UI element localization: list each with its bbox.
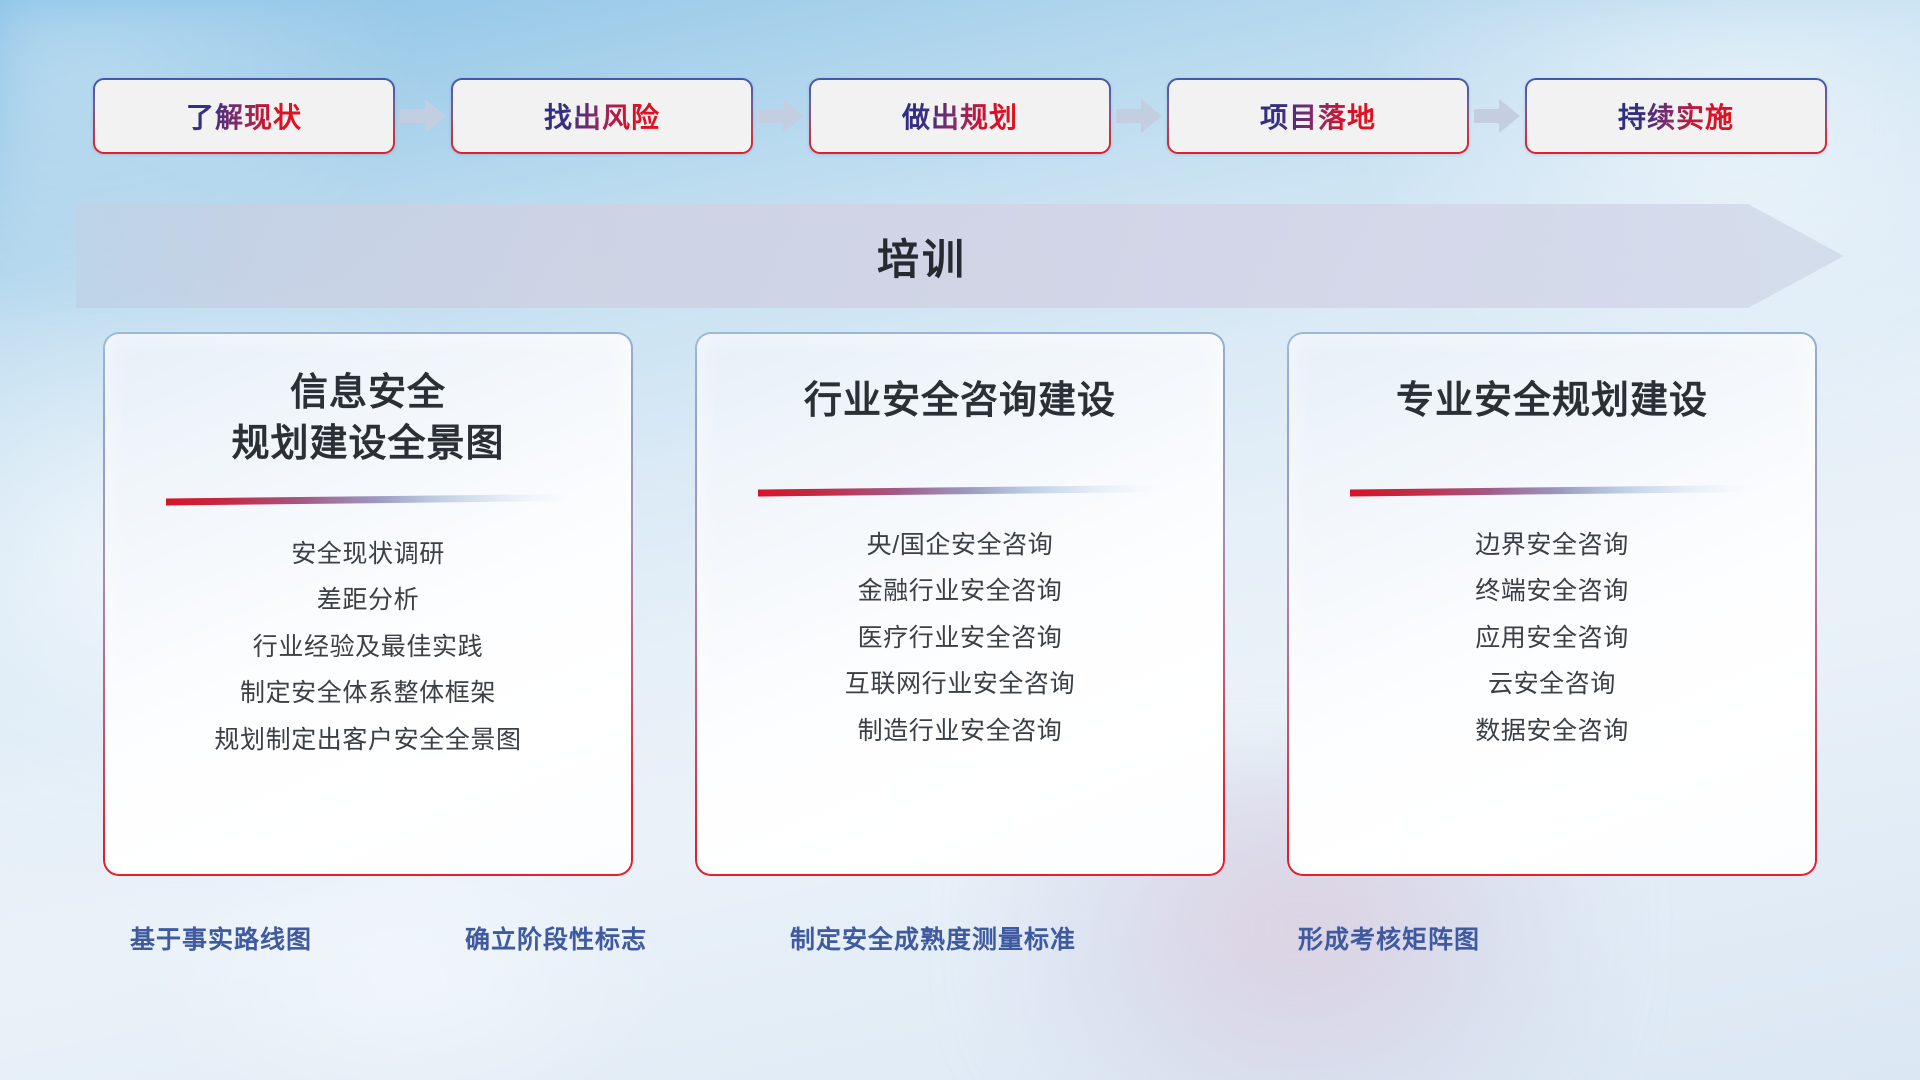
list-item: 边界安全咨询 (1475, 527, 1629, 565)
service-card-1-title-line-1: 信息安全 (231, 368, 504, 419)
step-item-1-label: 了解现状 (186, 96, 302, 136)
step-item-5[interactable]: 持续实施 (1525, 78, 1827, 154)
step-item-2-label: 找出风险 (544, 96, 660, 136)
list-item: 央/国企安全咨询 (867, 527, 1054, 565)
service-card-1-list: 安全现状调研 差距分析 行业经验及最佳实践 制定安全体系整体框架 规划制定出客户… (214, 536, 521, 760)
service-card-row: 信息安全 规划建设全景图 (0, 332, 1920, 876)
arrow-right-icon (1469, 78, 1525, 154)
training-banner: 培训 (76, 204, 1844, 308)
step-item-1-surface: 了解现状 (95, 80, 393, 152)
step-item-2-surface: 找出风险 (453, 80, 751, 152)
step-item-5-surface: 持续实施 (1527, 80, 1825, 152)
service-card-2-border: 行业安全咨询建设 (695, 332, 1225, 876)
service-card-1-title-line-2: 规划建设全景图 (231, 419, 504, 470)
service-card-1-title: 信息安全 规划建设全景图 (209, 368, 526, 470)
list-item: 医疗行业安全咨询 (858, 620, 1063, 658)
list-item: 应用安全咨询 (1475, 620, 1629, 658)
gradient-underline-icon (166, 494, 570, 506)
service-card-3-list: 边界安全咨询 终端安全咨询 应用安全咨询 云安全咨询 数据安全咨询 (1475, 527, 1629, 751)
step-item-1[interactable]: 了解现状 (93, 78, 395, 154)
gradient-underline-icon (758, 485, 1162, 497)
arrow-right-icon (1111, 78, 1167, 154)
list-item: 终端安全咨询 (1475, 573, 1629, 611)
outcome-caption-4: 形成考核矩阵图 (1298, 920, 1480, 956)
list-item: 行业经验及最佳实践 (253, 629, 483, 667)
process-step-row: 了解现状 找出风险 做出规划 项目落地 (0, 78, 1920, 154)
training-banner-label: 培训 (76, 204, 1768, 308)
service-card-2-title-line-1: 行业安全咨询建设 (804, 376, 1116, 427)
arrow-right-icon (395, 78, 451, 154)
service-card-3-border: 专业安全规划建设 (1287, 332, 1817, 876)
step-item-4[interactable]: 项目落地 (1167, 78, 1469, 154)
service-card-2-list: 央/国企安全咨询 金融行业安全咨询 医疗行业安全咨询 互联网行业安全咨询 制造行… (845, 527, 1075, 751)
list-item: 安全现状调研 (291, 536, 445, 574)
list-item: 规划制定出客户安全全景图 (214, 722, 521, 760)
list-item: 数据安全咨询 (1475, 713, 1629, 751)
service-card-1-surface: 信息安全 规划建设全景图 (105, 334, 631, 874)
gradient-underline-icon (1350, 485, 1754, 497)
service-card-1-border: 信息安全 规划建设全景图 (103, 332, 633, 876)
step-item-5-label: 持续实施 (1618, 96, 1734, 136)
step-item-2[interactable]: 找出风险 (451, 78, 753, 154)
list-item: 制定安全体系整体框架 (240, 675, 496, 713)
list-item: 差距分析 (317, 582, 419, 620)
service-card-3-title: 专业安全规划建设 (1374, 376, 1730, 427)
step-item-3[interactable]: 做出规划 (809, 78, 1111, 154)
service-card-3-title-line-1: 专业安全规划建设 (1396, 376, 1708, 427)
outcome-caption-2: 确立阶段性标志 (465, 920, 647, 956)
service-card-1[interactable]: 信息安全 规划建设全景图 (103, 332, 633, 876)
arrow-right-icon (753, 78, 809, 154)
step-item-3-label: 做出规划 (902, 96, 1018, 136)
service-card-3-surface: 专业安全规划建设 (1289, 334, 1815, 874)
step-item-3-surface: 做出规划 (811, 80, 1109, 152)
list-item: 金融行业安全咨询 (858, 573, 1063, 611)
outcome-caption-1: 基于事实路线图 (130, 920, 312, 956)
service-card-2[interactable]: 行业安全咨询建设 (695, 332, 1225, 876)
service-card-2-title: 行业安全咨询建设 (782, 376, 1138, 427)
list-item: 制造行业安全咨询 (858, 713, 1063, 751)
step-item-4-label: 项目落地 (1260, 96, 1376, 136)
list-item: 云安全咨询 (1488, 666, 1616, 704)
outcome-caption-row: 基于事实路线图 确立阶段性标志 制定安全成熟度测量标准 形成考核矩阵图 (0, 920, 1920, 964)
outcome-caption-3: 制定安全成熟度测量标准 (790, 920, 1076, 956)
step-item-4-surface: 项目落地 (1169, 80, 1467, 152)
service-card-3[interactable]: 专业安全规划建设 (1287, 332, 1817, 876)
service-card-2-surface: 行业安全咨询建设 (697, 334, 1223, 874)
list-item: 互联网行业安全咨询 (845, 666, 1075, 704)
